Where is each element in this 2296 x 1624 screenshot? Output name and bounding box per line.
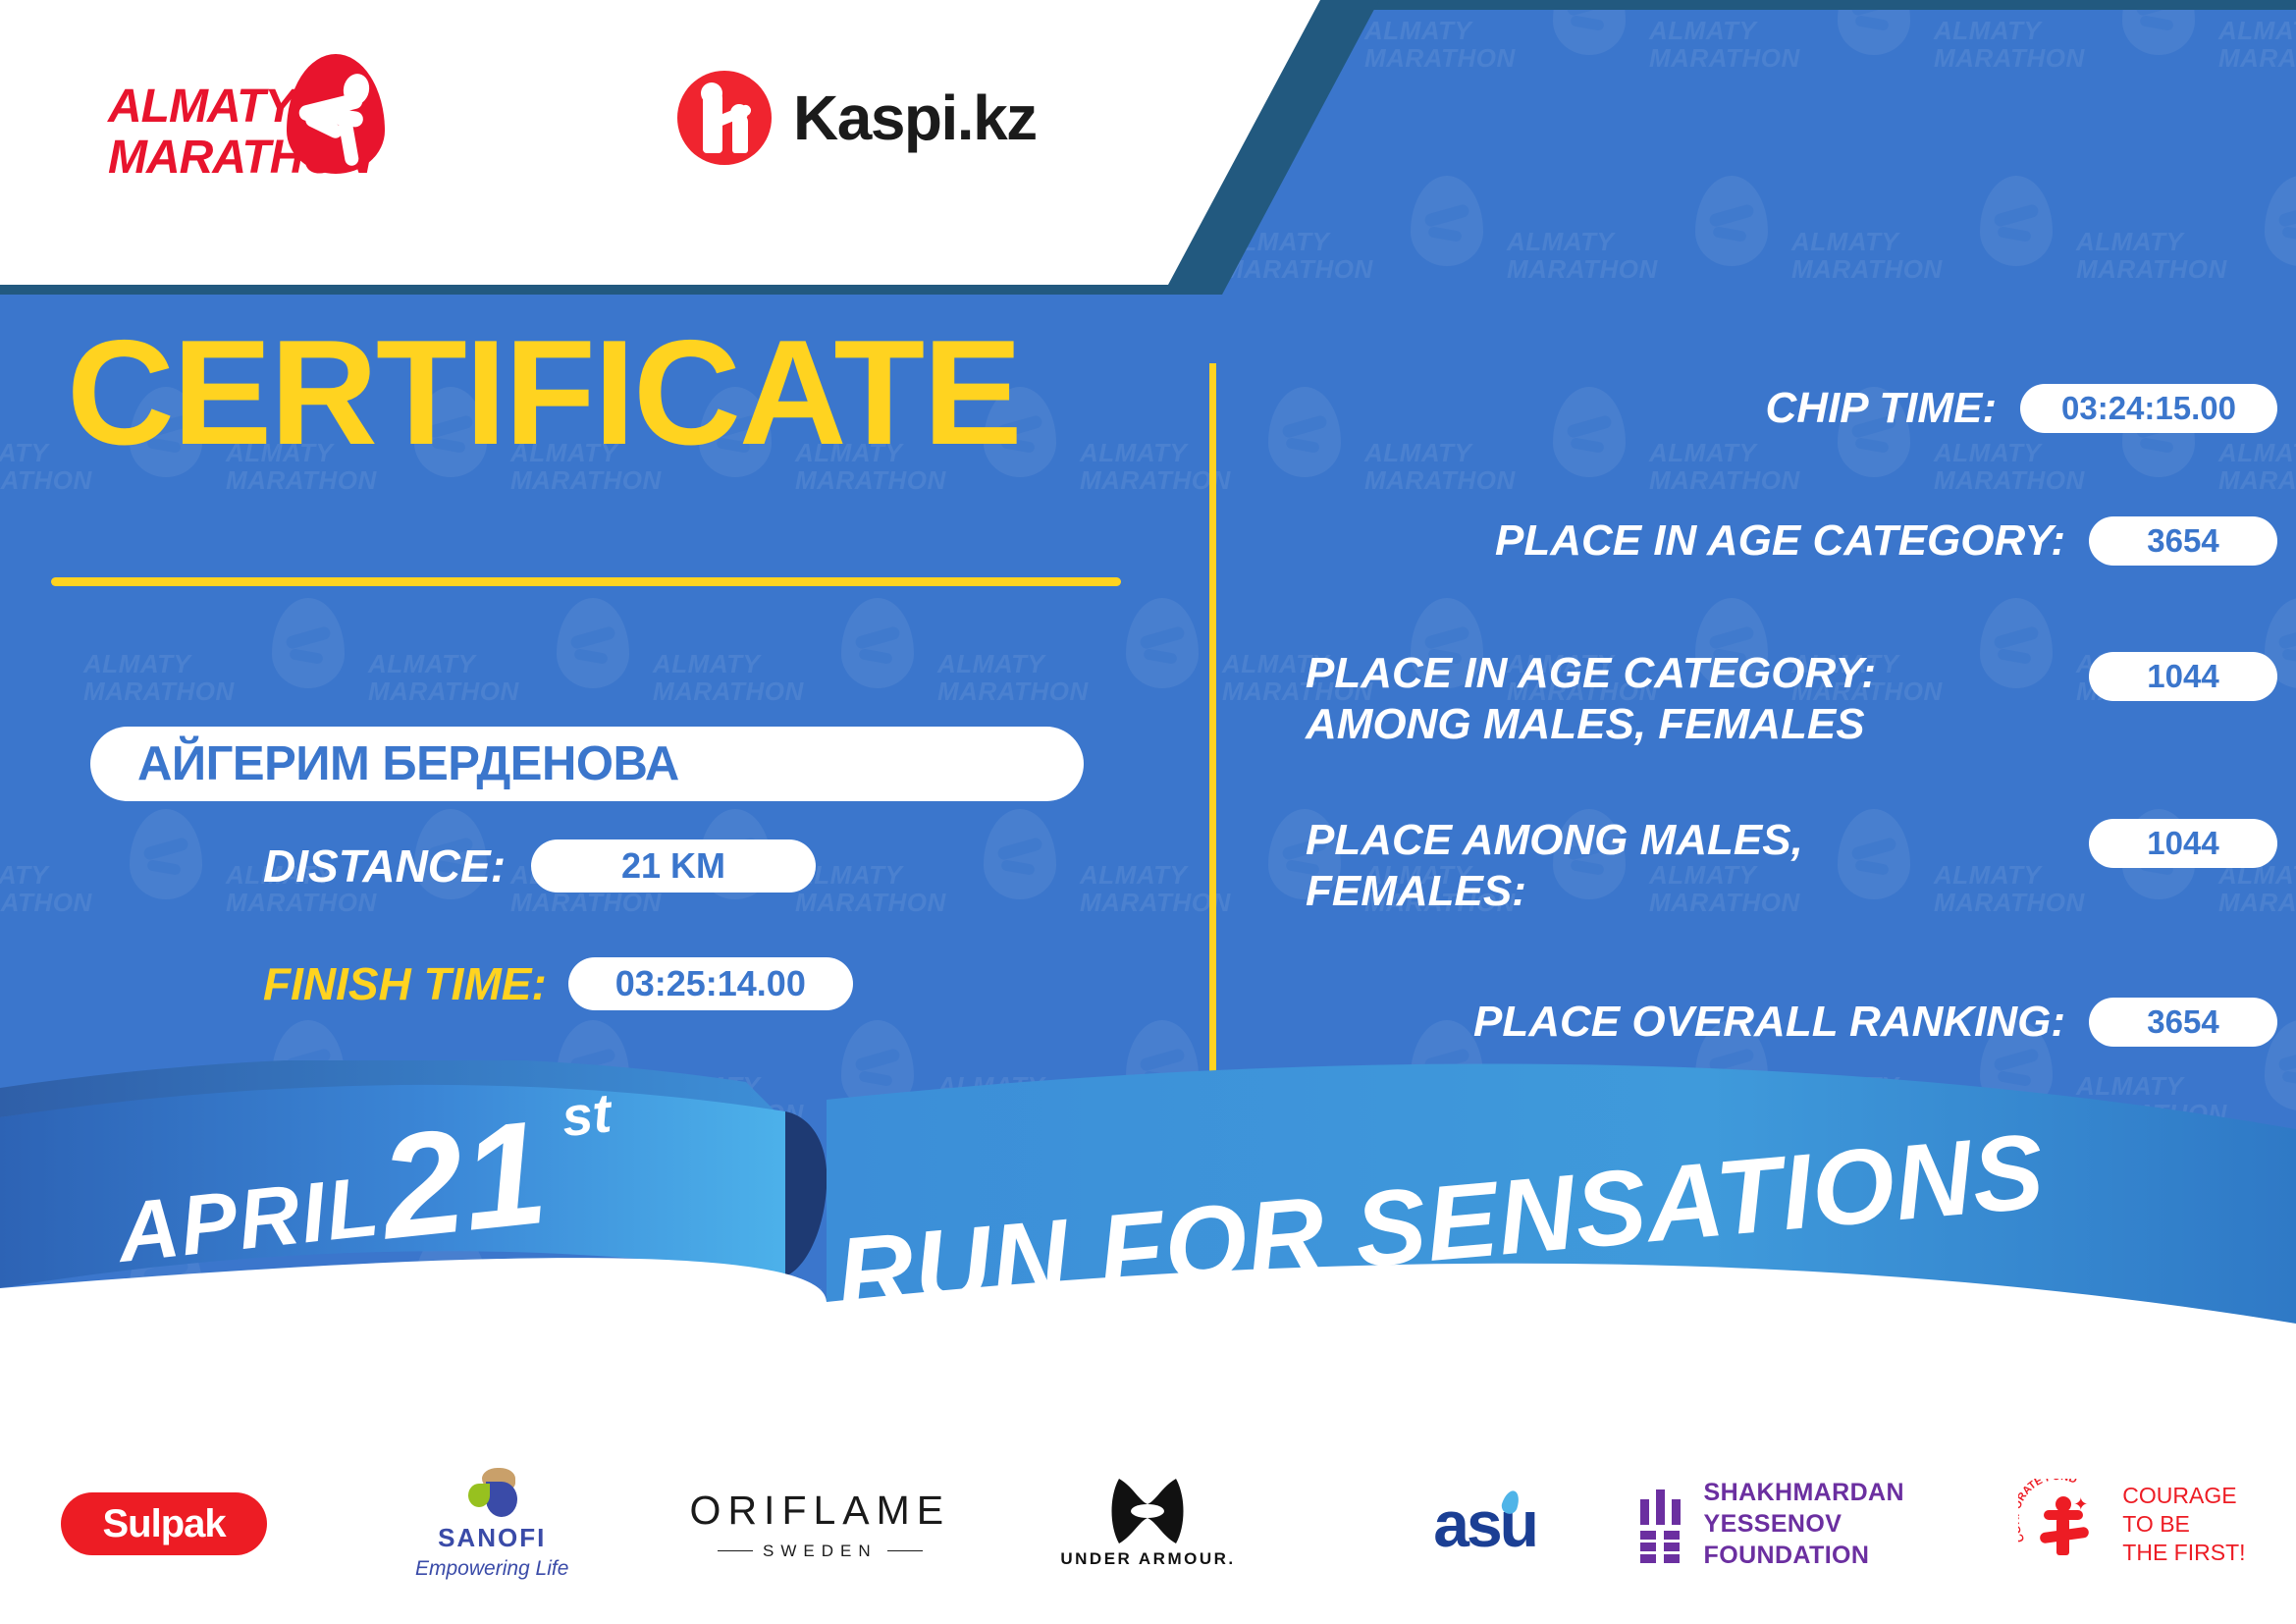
watermark-tile: ALMATYMARATHON [2218, 0, 2296, 172]
distance-label: DISTANCE: [263, 839, 506, 893]
field-finish-time: FINISH TIME: 03:25:14.00 [263, 957, 853, 1010]
watermark-tile: ALMATYMARATHON [1507, 172, 1791, 383]
stat-chip-time: CHIP TIME: 03:24:15.00 [1217, 383, 2277, 434]
field-distance: DISTANCE: 21 KM [263, 839, 816, 893]
sanofi-mark-icon [464, 1468, 519, 1519]
corporate-fund-logo: CORPORATE FUND ✦ COURAGE TO BE THE FIRST… [2018, 1479, 2245, 1569]
place-among-gender-value-pill: 1044 [2089, 819, 2277, 868]
finish-time-value-pill: 03:25:14.00 [568, 957, 853, 1010]
stat-place-overall: PLACE OVERALL RANKING: 3654 [1217, 997, 2277, 1048]
place-age-category-gender-label-l2: AMONG MALES, FEMALES [1306, 699, 2089, 750]
kaspi-logo: Kaspi.kz [677, 67, 1037, 169]
place-among-gender-label-l2: FEMALES: [1306, 866, 2089, 917]
sponsor-sulpak: Sulpak [0, 1424, 328, 1624]
oriflame-sub-text: SWEDEN [763, 1542, 878, 1561]
place-overall-value-pill: 3654 [2089, 998, 2277, 1047]
event-ribbon: APRIL 21 st RUN FOR SENSATIONS [0, 1060, 2296, 1473]
corporate-fund-line2: TO BE [2122, 1510, 2245, 1539]
place-among-gender-label-l1: PLACE AMONG MALES, [1306, 815, 2089, 866]
runner-drop-icon [287, 54, 385, 174]
oriflame-logo: ORIFLAME SWEDEN [690, 1488, 951, 1561]
sponsor-strip: Sulpak SANOFI Empowering Life ORIFLAME S… [0, 1424, 2296, 1624]
sulpak-logo: Sulpak [61, 1492, 267, 1555]
participant-name: АЙГЕРИМ БЕРДЕНОВА [137, 736, 679, 791]
under-armour-logo: UNDER ARMOUR. [1060, 1479, 1235, 1569]
place-age-category-label: PLACE IN AGE CATEGORY: [1217, 515, 2089, 567]
right-column-divider [1209, 363, 1216, 1090]
place-age-category-gender-value: 1044 [2147, 658, 2218, 695]
under-armour-icon [1099, 1479, 1196, 1543]
yessenov-logo-text: SHAKHMARDAN YESSENOV FOUNDATION [1704, 1477, 1968, 1571]
corporate-fund-text: COURAGE TO BE THE FIRST! [2122, 1482, 2245, 1567]
oriflame-sub: SWEDEN [718, 1542, 923, 1561]
kaspi-people-icon [677, 71, 772, 165]
watermark-tile: ALMATYMARATHON [1791, 172, 2076, 383]
place-age-category-gender-label-l1: PLACE IN AGE CATEGORY: [1306, 648, 2089, 699]
place-among-gender-value: 1044 [2147, 825, 2218, 862]
sponsor-under-armour: UNDER ARMOUR. [984, 1424, 1311, 1624]
distance-value-pill: 21 KM [531, 839, 816, 893]
place-age-category-value: 3654 [2147, 522, 2218, 560]
yessenov-logo: SHAKHMARDAN YESSENOV FOUNDATION [1640, 1477, 1968, 1571]
sulpak-logo-text: Sulpak [102, 1502, 225, 1546]
svg-text:st: st [559, 1081, 615, 1148]
almaty-marathon-logo: ALMATY MARATHON [108, 54, 442, 191]
finish-time-label: FINISH TIME: [263, 957, 547, 1010]
oriflame-logo-text: ORIFLAME [690, 1488, 951, 1534]
yessenov-line2: FOUNDATION [1704, 1540, 1968, 1571]
place-overall-value: 3654 [2147, 1003, 2218, 1041]
watermark-tile: ALMATYMARATHON [2076, 172, 2296, 383]
corporate-fund-line3: THE FIRST! [2122, 1539, 2245, 1567]
stat-place-age-category-gender: PLACE IN AGE CATEGORY: AMONG MALES, FEMA… [1217, 648, 2277, 750]
title-divider [51, 577, 1121, 586]
kaspi-logo-text: Kaspi.kz [793, 81, 1037, 154]
watermark-tile: ALMATYMARATHON [0, 805, 226, 1016]
sanofi-logo: SANOFI Empowering Life [415, 1468, 568, 1581]
stat-place-among-gender: PLACE AMONG MALES, FEMALES: 1044 [1217, 815, 2277, 917]
under-armour-logo-text: UNDER ARMOUR. [1060, 1549, 1235, 1569]
sponsor-corporate-fund: CORPORATE FUND ✦ COURAGE TO BE THE FIRST… [1968, 1424, 2296, 1624]
distance-value: 21 KM [621, 845, 725, 887]
svg-text:21: 21 [370, 1089, 553, 1271]
watermark-tile: ALMATYMARATHON [1364, 0, 1649, 172]
sponsor-oriflame: ORIFLAME SWEDEN [656, 1424, 984, 1624]
chip-time-value: 03:24:15.00 [2061, 390, 2236, 427]
oriflame-rule-left [718, 1550, 753, 1551]
asu-logo-text: asu [1433, 1487, 1536, 1561]
stat-place-age-category: PLACE IN AGE CATEGORY: 3654 [1217, 515, 2277, 567]
sponsor-sanofi: SANOFI Empowering Life [328, 1424, 656, 1624]
yessenov-mark-icon [1640, 1489, 1682, 1558]
watermark-tile: ALMATYMARATHON [1649, 0, 1934, 172]
finish-time-value: 03:25:14.00 [615, 963, 806, 1004]
chip-time-value-pill: 03:24:15.00 [2020, 384, 2277, 433]
yessenov-line1: SHAKHMARDAN YESSENOV [1704, 1477, 1968, 1540]
place-among-gender-label: PLACE AMONG MALES, FEMALES: [1217, 815, 2089, 917]
chip-time-label: CHIP TIME: [1217, 383, 2020, 434]
place-age-category-value-pill: 3654 [2089, 516, 2277, 566]
page-title: CERTIFICATE [67, 319, 1021, 466]
sponsor-yessenov-foundation: SHAKHMARDAN YESSENOV FOUNDATION [1640, 1424, 1968, 1624]
participant-name-field: АЙГЕРИМ БЕРДЕНОВА [90, 727, 1084, 801]
place-age-category-gender-value-pill: 1044 [2089, 652, 2277, 701]
sanofi-logo-text: SANOFI [438, 1523, 546, 1553]
sanofi-tagline: Empowering Life [415, 1557, 568, 1581]
place-age-category-gender-label: PLACE IN AGE CATEGORY: AMONG MALES, FEMA… [1217, 648, 2089, 750]
sponsor-asu: asu [1312, 1424, 1640, 1624]
oriflame-rule-right [887, 1550, 923, 1551]
place-overall-label: PLACE OVERALL RANKING: [1217, 997, 2089, 1048]
corporate-fund-icon: CORPORATE FUND ✦ [2018, 1479, 2109, 1569]
watermark-tile: ALMATYMARATHON [1934, 0, 2218, 172]
asu-logo: asu [1433, 1487, 1519, 1561]
certificate-page: ALMATYMARATHONALMATYMARATHONALMATYMARATH… [0, 0, 2296, 1624]
corporate-fund-line1: COURAGE [2122, 1482, 2245, 1510]
